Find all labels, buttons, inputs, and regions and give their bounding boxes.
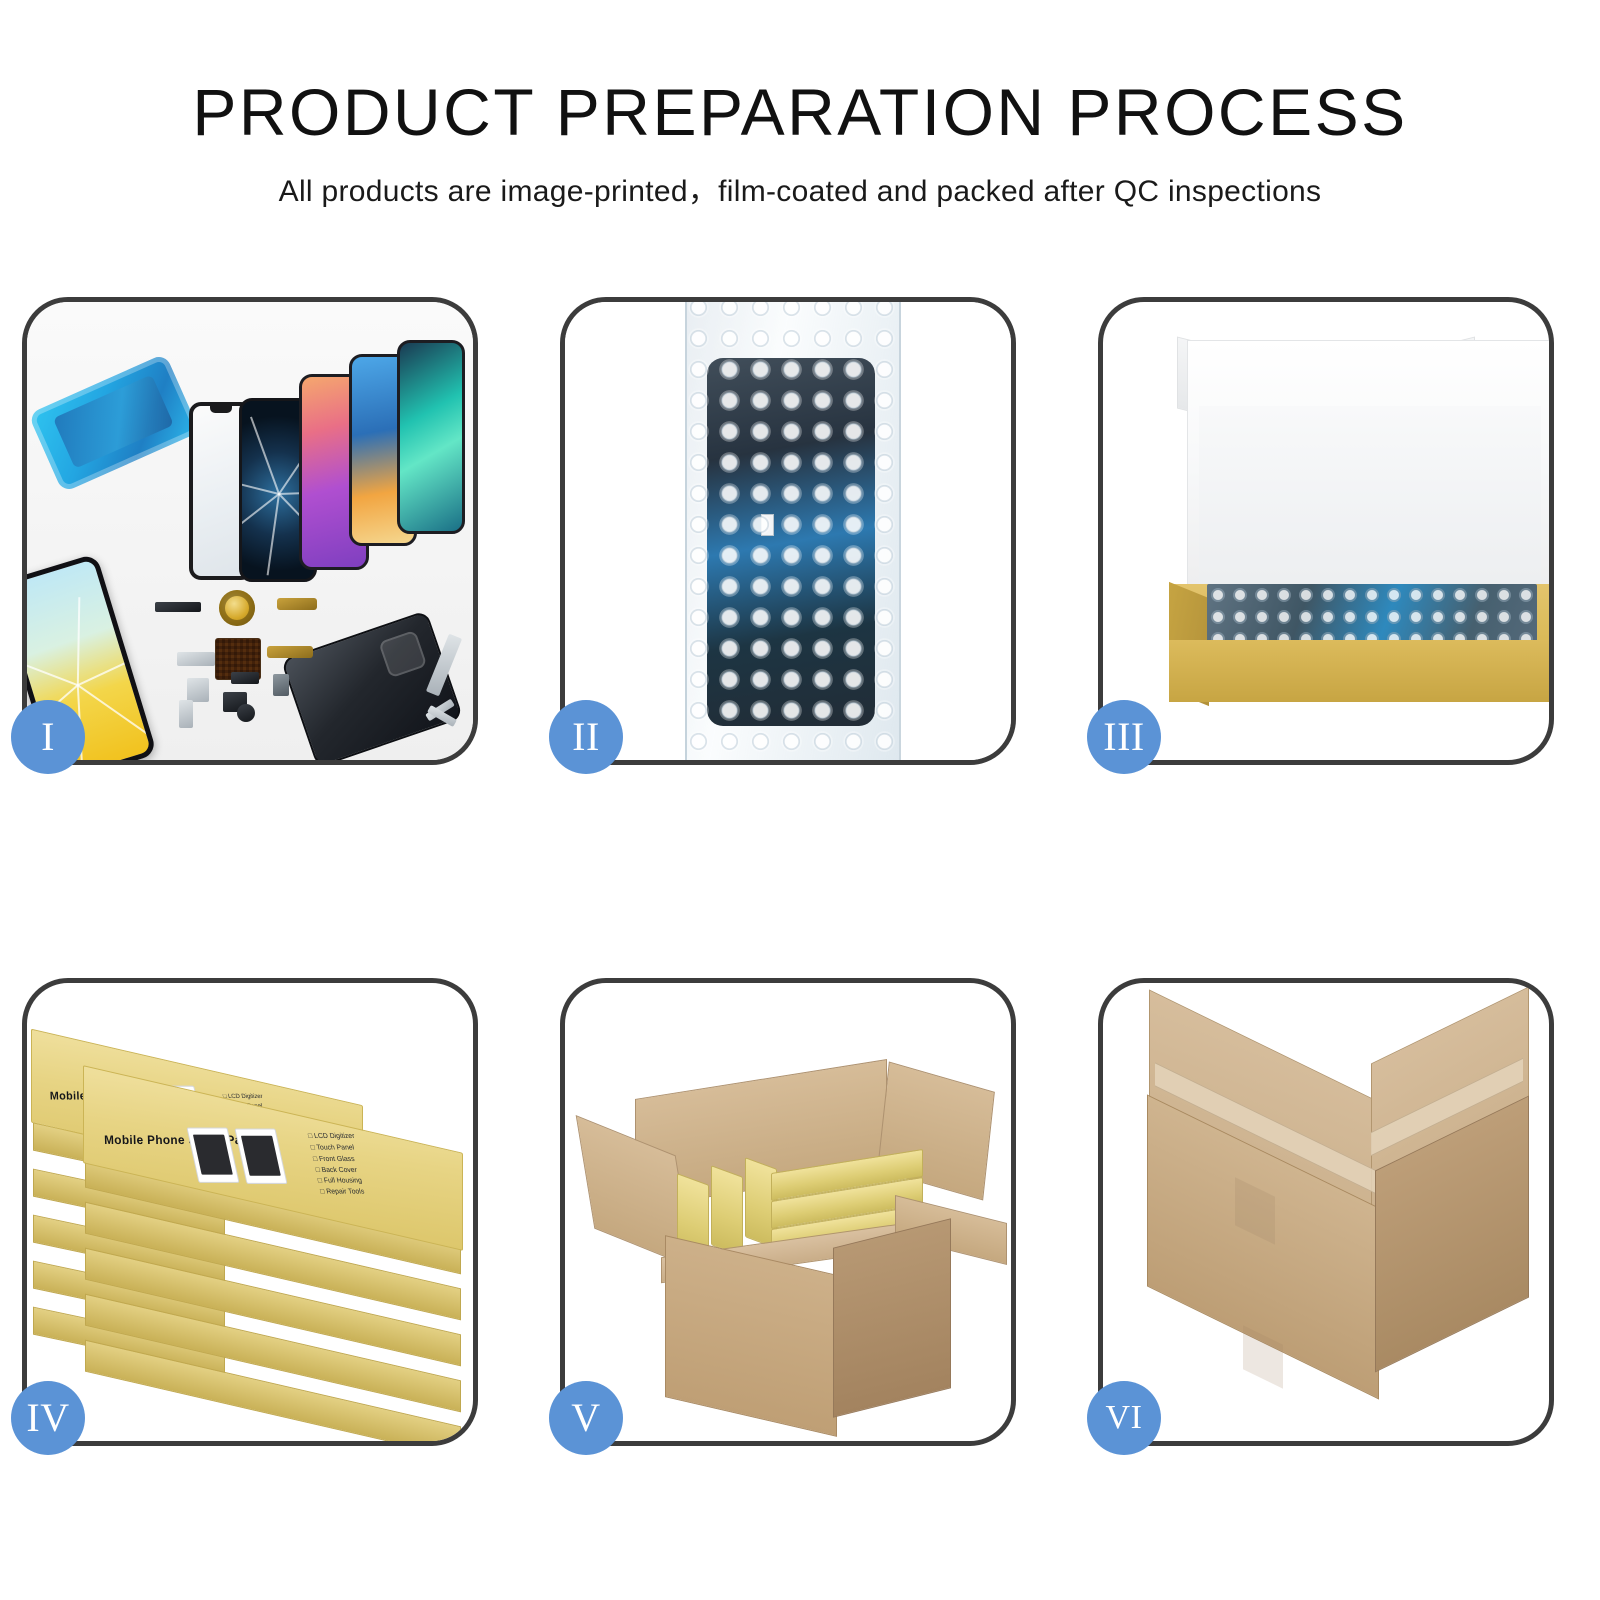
- connector-part-a: [187, 678, 209, 702]
- step-panel-6: VI: [1098, 978, 1554, 1446]
- header: PRODUCT PREPARATION PROCESS All products…: [0, 78, 1600, 210]
- yellow-box-tray-front-wall: [1169, 640, 1549, 702]
- retail-box-checklist-front: LCD Digitizer Touch Panel Front Glass Ba…: [307, 1132, 368, 1199]
- step-1-image: [27, 302, 473, 760]
- box-interior-panel: [1199, 406, 1541, 596]
- step-badge-4: IV: [11, 1381, 85, 1455]
- flex-cable-part-a: [277, 598, 317, 610]
- wireless-charging-coil-part: [219, 590, 255, 626]
- step-panel-1: I: [22, 297, 478, 765]
- connector-part-c: [273, 674, 289, 696]
- step-4-image: Mobile Phone Spare Parts LCD Digitizer T…: [27, 983, 473, 1441]
- sim-tray-part: [179, 700, 193, 728]
- step-panel-3: III: [1098, 297, 1554, 765]
- step-2-image: [565, 302, 1011, 760]
- product-preparation-process-infographic: PRODUCT PREPARATION PROCESS All products…: [0, 0, 1600, 1600]
- retail-box-in-carton-2: [711, 1165, 743, 1257]
- carton-face-right: [833, 1218, 951, 1417]
- step-5-image: [565, 983, 1011, 1441]
- carton-face-left: [665, 1235, 837, 1437]
- step-badge-6: VI: [1087, 1381, 1161, 1455]
- step-6-image: [1103, 983, 1549, 1441]
- step-badge-3: III: [1087, 700, 1161, 774]
- step-panel-2: II: [560, 297, 1016, 765]
- page-title: PRODUCT PREPARATION PROCESS: [0, 78, 1600, 148]
- step-panel-5: V: [560, 978, 1016, 1446]
- step-badge-2: II: [549, 700, 623, 774]
- step-badge-1: I: [11, 700, 85, 774]
- flex-cable-part-c: [177, 652, 215, 666]
- step-3-image: [1103, 302, 1549, 760]
- step-panel-4: Mobile Phone Spare Parts LCD Digitizer T…: [22, 978, 478, 1446]
- connector-part-b: [231, 672, 259, 684]
- retail-box-thumb-b-front: [234, 1129, 287, 1184]
- step-badge-5: V: [549, 1381, 623, 1455]
- process-step-grid: I II: [22, 297, 1578, 1446]
- teal-gradient-phone: [397, 340, 465, 534]
- bubble-wrapped-screen-in-box: [1207, 584, 1537, 642]
- bubble-wrap-shadow-texture: [683, 302, 899, 760]
- page-subtitle: All products are image-printed，film-coat…: [0, 166, 1600, 210]
- earpiece-speaker-part: [155, 602, 201, 612]
- flex-cable-part-b: [267, 646, 313, 658]
- lens-part: [237, 704, 255, 722]
